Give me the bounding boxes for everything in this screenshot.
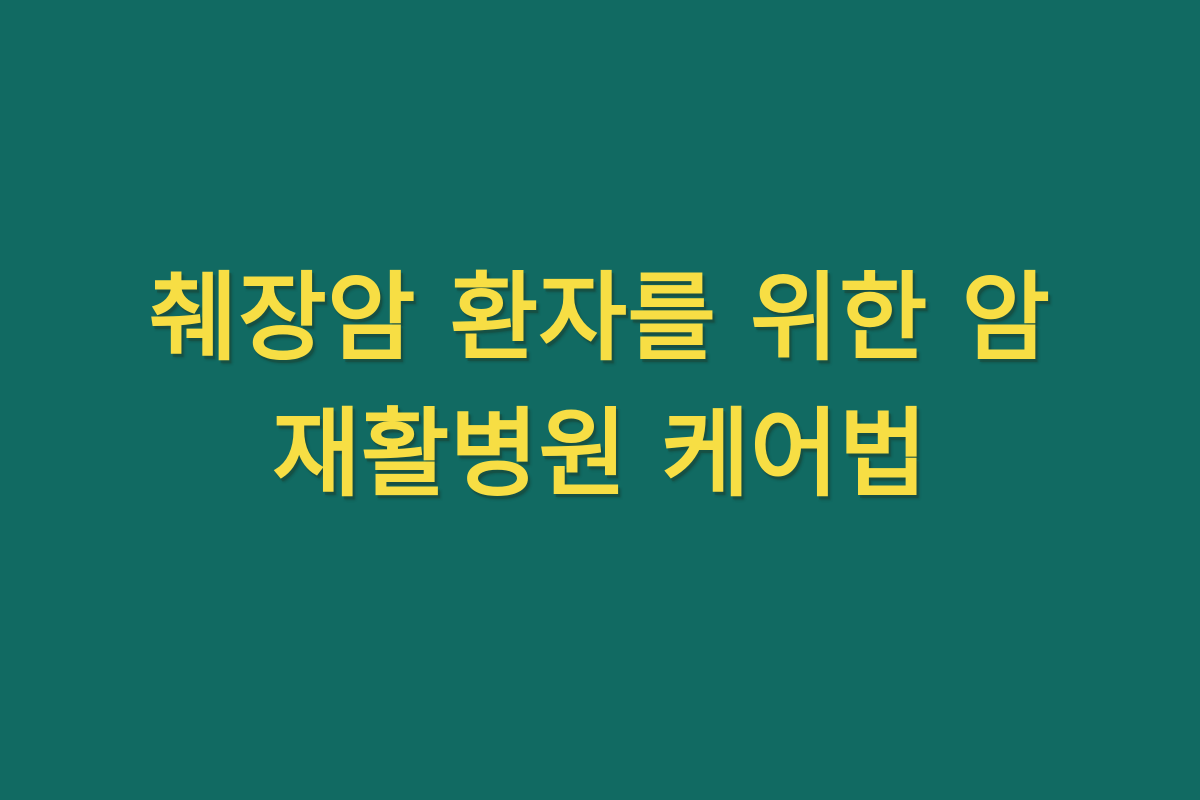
title-line-1: 췌장암 환자를 위한 암: [80, 250, 1120, 386]
title-card: 췌장암 환자를 위한 암 재활병원 케어법: [0, 0, 1200, 800]
title-line-2: 재활병원 케어법: [80, 386, 1120, 522]
title-text-block: 췌장암 환자를 위한 암 재활병원 케어법: [80, 250, 1120, 523]
